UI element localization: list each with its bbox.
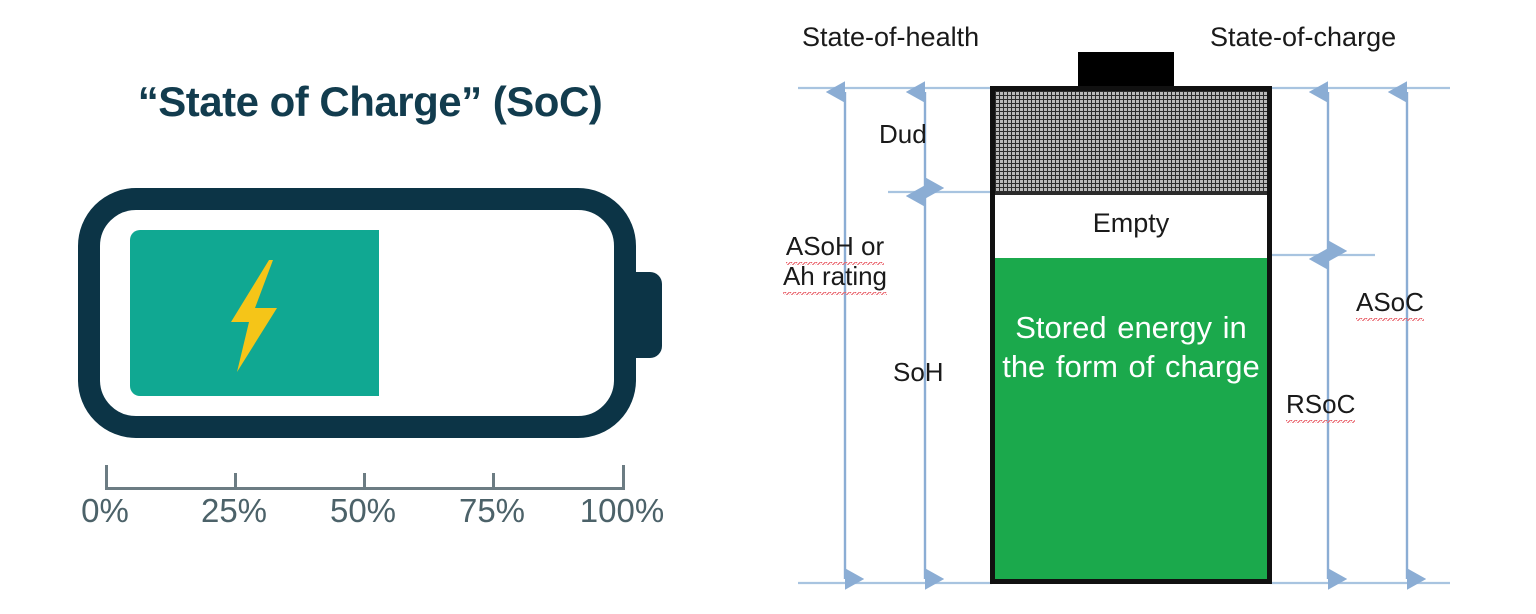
percent-scale-labels: 0% 25% 50% 75% 100% bbox=[60, 492, 680, 538]
scale-label-0: 0% bbox=[45, 492, 165, 530]
scale-label-25: 25% bbox=[174, 492, 294, 530]
page-title: “State of Charge” (SoC) bbox=[0, 78, 740, 126]
scale-label-50: 50% bbox=[303, 492, 423, 530]
cell-band-stored-label: Stored energy in the form of charge bbox=[1001, 308, 1261, 386]
lightning-bolt-icon bbox=[213, 260, 293, 372]
scale-tick-100 bbox=[622, 465, 625, 490]
battery-cell-body: Empty Stored energy in the form of charg… bbox=[990, 86, 1272, 584]
dimension-label-dud: Dud bbox=[879, 120, 927, 150]
scale-tick-50 bbox=[363, 473, 366, 490]
percent-scale-ruler bbox=[105, 465, 625, 495]
diagram-canvas: “State of Charge” (SoC) 0% 25% 50% 75% bbox=[0, 0, 1536, 614]
scale-tick-0 bbox=[105, 465, 108, 490]
cell-band-stored: Stored energy in the form of charge bbox=[995, 258, 1267, 579]
cell-terminal-cap-icon bbox=[1078, 52, 1174, 90]
dimension-label-asoh: ASoH or Ah rating bbox=[770, 232, 900, 291]
battery-graphic bbox=[78, 188, 678, 450]
header-state-of-health: State-of-health bbox=[802, 22, 979, 53]
scale-tick-25 bbox=[234, 473, 237, 490]
dimension-label-asoc-text: ASoC bbox=[1356, 287, 1424, 321]
scale-label-100: 100% bbox=[562, 492, 682, 530]
dimension-label-asoh-text: ASoH or Ah rating bbox=[783, 231, 887, 295]
scale-tick-75 bbox=[492, 473, 495, 490]
scale-label-75: 75% bbox=[432, 492, 552, 530]
dimension-label-soh: SoH bbox=[893, 358, 944, 388]
dimension-label-rsoc: RSoC bbox=[1286, 390, 1355, 420]
cell-band-empty: Empty bbox=[995, 198, 1267, 258]
dimension-label-asoc: ASoC bbox=[1356, 288, 1424, 318]
dimension-label-rsoc-text: RSoC bbox=[1286, 389, 1355, 423]
cell-band-empty-label: Empty bbox=[995, 208, 1267, 239]
cell-band-dud bbox=[995, 91, 1267, 195]
soh-soc-cell-panel: Empty Stored energy in the form of charg… bbox=[740, 0, 1536, 614]
battery-terminal-icon bbox=[630, 272, 662, 358]
soc-battery-panel: “State of Charge” (SoC) 0% 25% 50% 75% bbox=[0, 0, 740, 614]
header-state-of-charge: State-of-charge bbox=[1210, 22, 1396, 53]
